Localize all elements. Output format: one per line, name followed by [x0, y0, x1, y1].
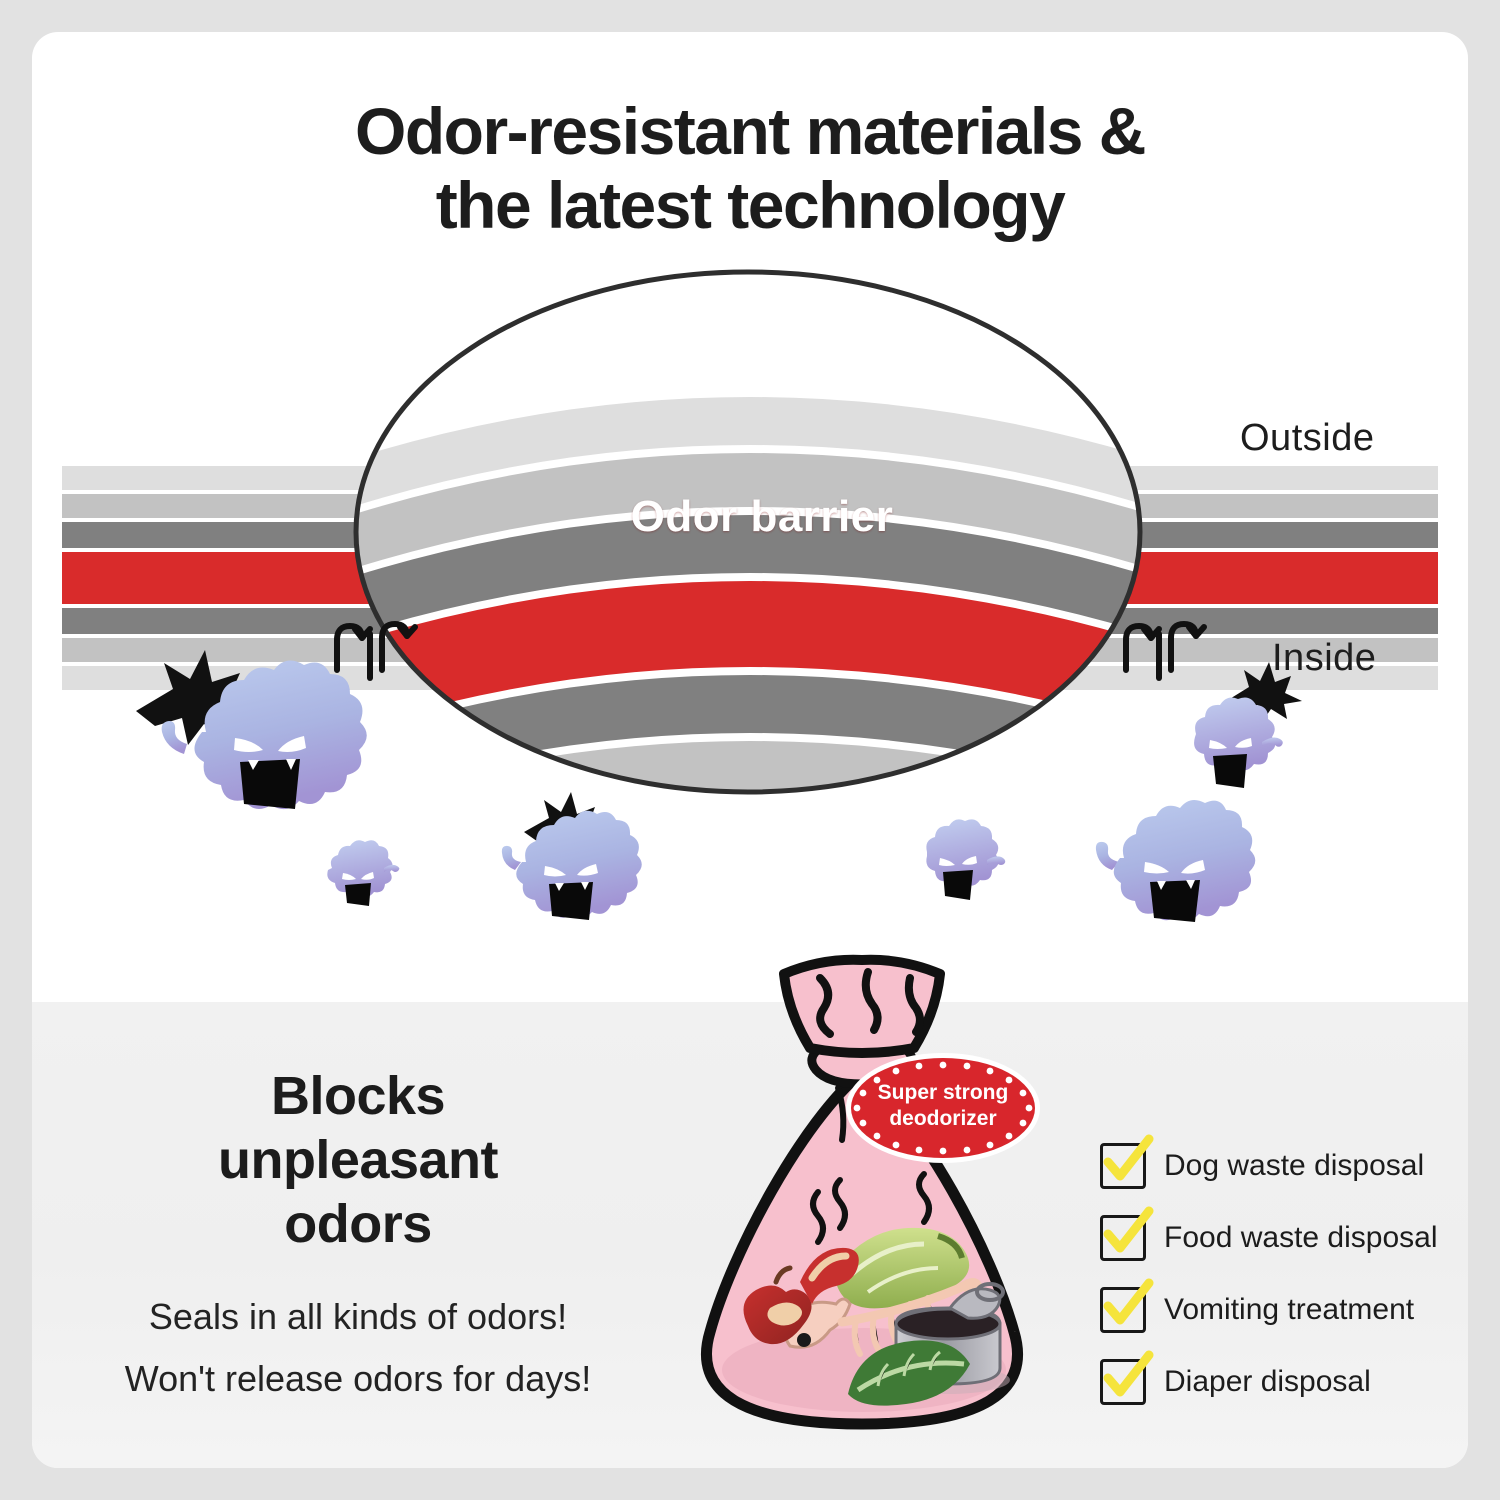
promo-head-line-2: unpleasant: [78, 1128, 638, 1192]
checklist-item-label: Food waste disposal: [1164, 1221, 1438, 1255]
promo-head-line-1: Blocks: [78, 1064, 638, 1128]
use-case-checklist: Dog waste disposal Food waste disposal: [1100, 1130, 1450, 1418]
checkbox-checked-icon[interactable]: [1100, 1287, 1146, 1333]
trash-bag-illustration: Super strong deodorizer: [652, 952, 1072, 1452]
checklist-item-label: Diaper disposal: [1164, 1365, 1371, 1399]
checkbox-checked-icon[interactable]: [1100, 1143, 1146, 1189]
promo-head-line-3: odors: [78, 1192, 638, 1256]
checklist-item-vomiting[interactable]: Vomiting treatment: [1100, 1274, 1450, 1346]
checklist-item-label: Vomiting treatment: [1164, 1293, 1414, 1327]
deodorizer-badge: [846, 1053, 1040, 1163]
odor-monster-small-right: [926, 819, 1005, 900]
checklist-item-food-waste[interactable]: Food waste disposal: [1100, 1202, 1450, 1274]
checkbox-checked-icon[interactable]: [1100, 1359, 1146, 1405]
barrier-diagram: Odor barrier Outside Inside: [32, 32, 1468, 1002]
promo-sub-line-2: Won't release odors for days!: [78, 1348, 638, 1410]
checklist-item-label: Dog waste disposal: [1164, 1149, 1424, 1183]
checklist-item-diaper[interactable]: Diaper disposal: [1100, 1346, 1450, 1418]
label-outside: Outside: [1240, 417, 1374, 460]
trash-bag-svg: [652, 952, 1072, 1452]
promo-headline: Blocks unpleasant odors: [78, 1064, 638, 1256]
odor-monster-tiny-left: [327, 840, 399, 906]
odor-monster-center: [502, 792, 642, 920]
promo-sub-line-1: Seals in all kinds of odors!: [78, 1286, 638, 1348]
infographic-card: Odor-resistant materials & the latest te…: [32, 32, 1468, 1468]
benefits-panel: Blocks unpleasant odors Seals in all kin…: [32, 1002, 1468, 1468]
film-layers-magnified: [332, 272, 1172, 916]
checkbox-checked-icon[interactable]: [1100, 1215, 1146, 1261]
promo-subtext: Seals in all kinds of odors! Won't relea…: [78, 1286, 638, 1410]
barrier-diagram-svg: [32, 32, 1468, 1002]
promo-text-block: Blocks unpleasant odors Seals in all kin…: [78, 1064, 638, 1410]
odor-monster-large-right: [1096, 800, 1255, 922]
checklist-item-dog-waste[interactable]: Dog waste disposal: [1100, 1130, 1450, 1202]
label-inside: Inside: [1272, 637, 1376, 680]
